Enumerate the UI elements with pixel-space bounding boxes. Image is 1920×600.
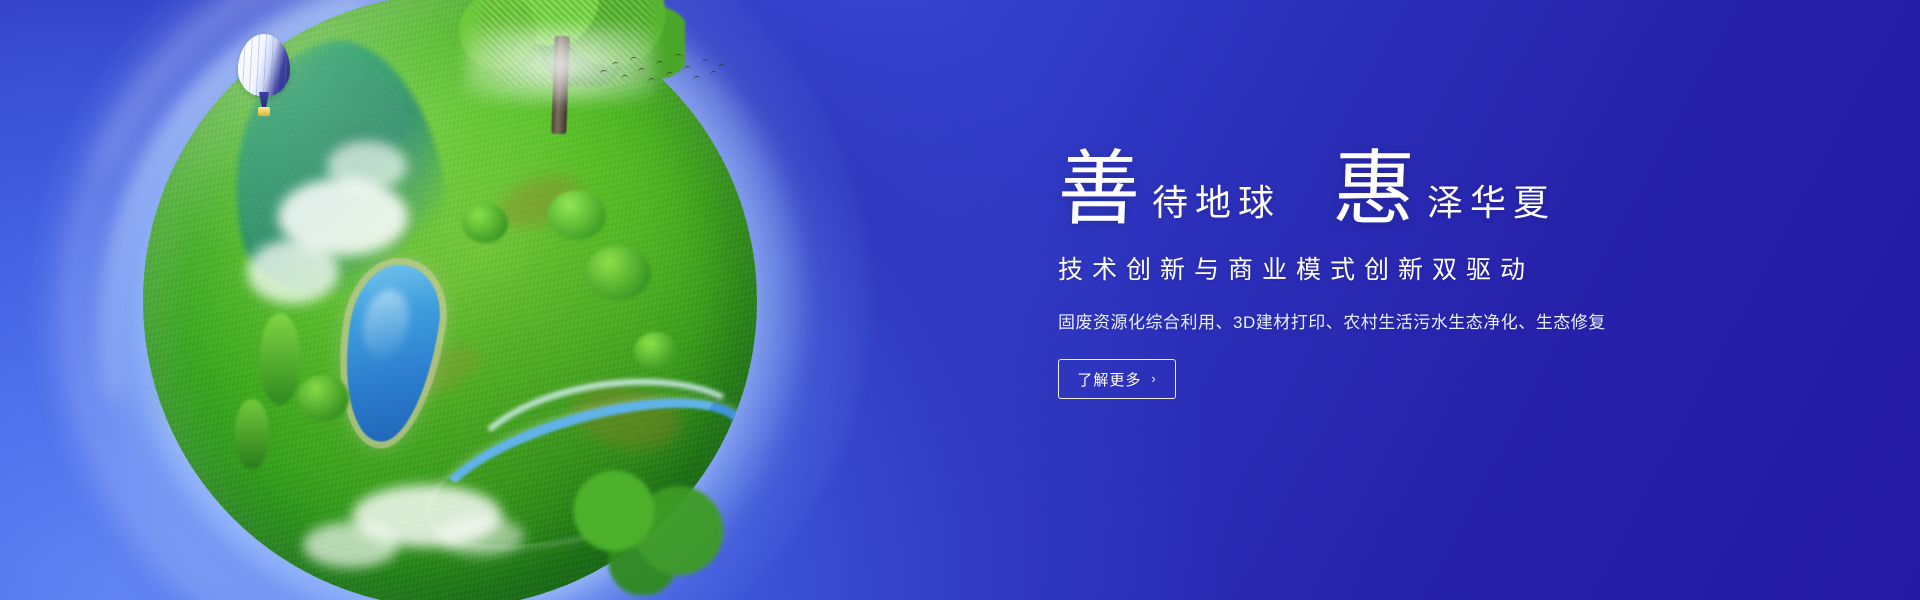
bird-flock-icon <box>596 48 726 90</box>
cloud <box>303 522 399 568</box>
headline-lead-char-1: 善 <box>1057 151 1142 228</box>
balloon-ribs <box>238 34 290 96</box>
headline-rest-1: 待地球 <box>1152 186 1281 228</box>
page-title: 善 待地球 惠 泽华夏 <box>1058 136 1798 228</box>
hero-banner: 善 待地球 惠 泽华夏 技术创新与商业模式创新双驱动 固废资源化综合利用、3D建… <box>0 0 1920 600</box>
headline-phrase-1: 善 待地球 <box>1058 151 1281 228</box>
headline-phrase-2: 惠 泽华夏 <box>1333 151 1556 228</box>
base-foliage <box>560 455 740 595</box>
chevron-right-icon: › <box>1151 372 1156 385</box>
learn-more-button[interactable]: 了解更多 › <box>1058 359 1176 399</box>
banner-description: 固废资源化综合利用、3D建材打印、农村生活污水生态净化、生态修复 <box>1058 308 1798 333</box>
balloon-basket <box>258 107 270 116</box>
bush <box>235 399 269 469</box>
bush <box>297 375 349 421</box>
balloon-neck <box>259 92 269 108</box>
bush <box>462 203 508 243</box>
banner-content: 善 待地球 惠 泽华夏 技术创新与商业模式创新双驱动 固废资源化综合利用、3D建… <box>1058 136 1798 399</box>
bush <box>260 313 300 405</box>
headline-lead-char-2: 惠 <box>1332 151 1417 228</box>
cloud <box>247 240 339 304</box>
cloud <box>438 516 524 556</box>
learn-more-label: 了解更多 <box>1077 369 1141 390</box>
banner-subtitle: 技术创新与商业模式创新双驱动 <box>1058 250 1798 286</box>
headline-rest-2: 泽华夏 <box>1427 186 1556 228</box>
hot-air-balloon-icon <box>238 34 290 126</box>
bush <box>585 246 651 300</box>
bush <box>634 332 678 370</box>
